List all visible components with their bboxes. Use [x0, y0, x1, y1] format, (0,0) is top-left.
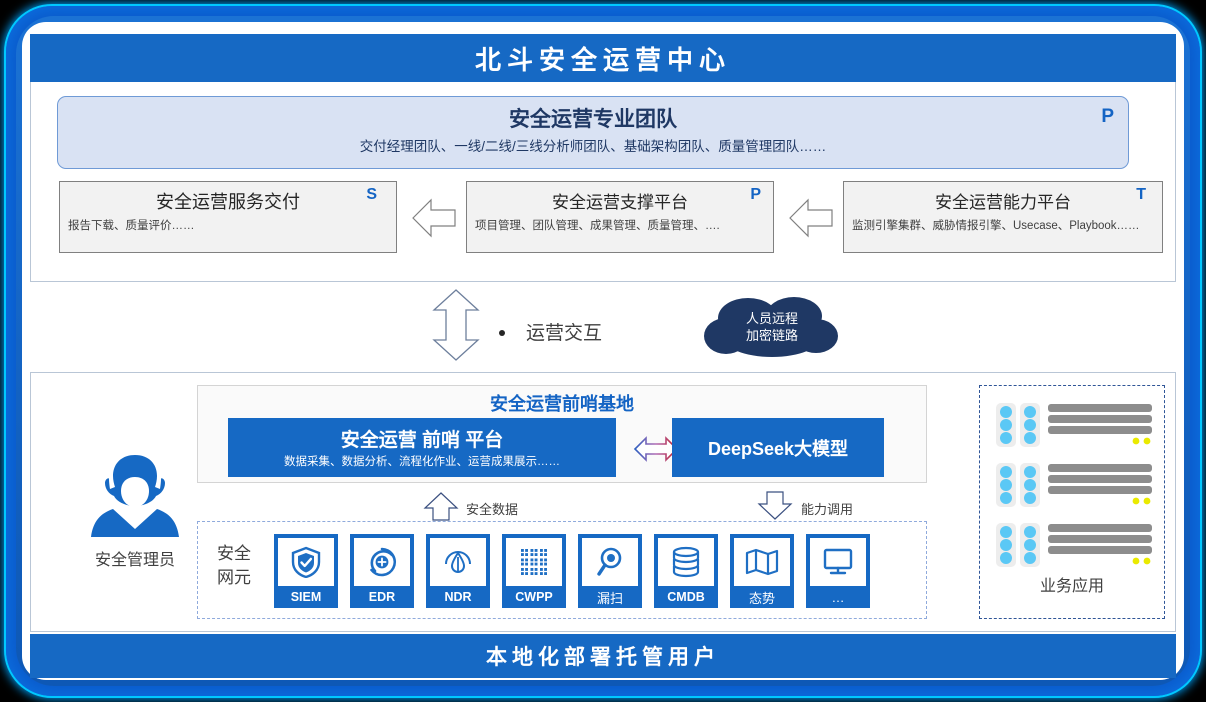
server-icon-2 — [996, 462, 1152, 508]
arrow-left-icon-2 — [788, 197, 834, 239]
tool-card-cwpp[interactable]: CWPP — [502, 534, 566, 608]
tool-card-siem[interactable]: SIEM — [274, 534, 338, 608]
outpost-title: 安全运营前哨基地 — [198, 390, 926, 416]
security-admin: 安全管理员 — [69, 451, 201, 581]
encrypted-link-cloud: 人员远程 加密链路 — [702, 292, 842, 364]
diagram-root: 北斗安全运营中心 安全运营专业团队 交付经理团队、一线/二线/三线分析师团队、基… — [0, 0, 1206, 702]
arrow-updown-icon — [428, 288, 484, 362]
outpost-base-box: 安全运营前哨基地 安全运营 前哨 平台 数据采集、数据分析、流程化作业、运营成果… — [197, 385, 927, 483]
network-leaf-icon — [430, 538, 486, 586]
tool-card-situation[interactable]: 态势 — [730, 534, 794, 608]
cloud-text: 人员远程 加密链路 — [702, 310, 842, 344]
tool-label: CMDB — [667, 586, 705, 608]
netelem-label: 安全 网元 — [214, 542, 254, 590]
capability-call-label: 能力调用 — [801, 499, 853, 518]
tool-card-vulnscan[interactable]: 漏扫 — [578, 534, 642, 608]
cloud-line-2: 加密链路 — [702, 327, 842, 344]
deepseek-model-box: DeepSeek大模型 — [672, 418, 884, 477]
box-badge-t: T — [1136, 186, 1146, 204]
business-applications-panel: 业务应用 — [979, 385, 1165, 619]
arrow-down-icon — [757, 491, 793, 521]
box-badge-p: P — [750, 186, 761, 204]
box-subtitle: 监测引擎集群、威胁情报引擎、Usecase、Playbook…… — [852, 218, 1154, 234]
magnifier-icon — [582, 538, 638, 586]
tool-label: 漏扫 — [597, 586, 623, 608]
deepseek-title: DeepSeek大模型 — [672, 435, 884, 461]
outpost-platform-box: 安全运营 前哨 平台 数据采集、数据分析、流程化作业、运营成果展示…… — [228, 418, 616, 477]
security-tool-icons: SIEM EDR — [274, 534, 916, 608]
cloud-line-1: 人员远程 — [702, 310, 842, 327]
tool-label: NDR — [444, 586, 471, 608]
box-title: 安全运营能力平台 — [844, 188, 1162, 213]
admin-person-icon — [87, 451, 183, 537]
tool-label: EDR — [369, 586, 395, 608]
header-bar: 北斗安全运营中心 — [30, 34, 1176, 82]
outpost-platform-subtitle: 数据采集、数据分析、流程化作业、运营成果展示…… — [228, 453, 616, 469]
security-data-label: 安全数据 — [466, 499, 518, 518]
endpoint-swirl-icon — [354, 538, 410, 586]
bullet-dot — [499, 330, 505, 336]
middle-connector-zone: 运营交互 人员远程 加密链路 — [30, 282, 1176, 374]
netelem-label-line2: 网元 — [214, 566, 254, 590]
security-network-elements: 安全 网元 SIEM — [197, 521, 927, 619]
lower-panel: 安全管理员 安全运营前哨基地 安全运营 前哨 平台 数据采集、数据分析、流程化作… — [30, 372, 1176, 632]
netelem-label-line1: 安全 — [214, 542, 254, 566]
platform-box-service-delivery: 安全运营服务交付 S 报告下载、质量评价…… — [59, 181, 397, 253]
server-icon-3 — [996, 522, 1152, 568]
database-icon — [658, 538, 714, 586]
box-title: 安全运营服务交付 — [60, 188, 396, 214]
arrow-left-icon-1 — [411, 197, 457, 239]
outpost-platform-title: 安全运营 前哨 平台 — [228, 425, 616, 452]
box-title: 安全运营支撑平台 — [467, 188, 773, 213]
tool-label: … — [832, 586, 845, 608]
footer-bar: 本地化部署托管用户 — [30, 634, 1176, 678]
interaction-label: 运营交互 — [526, 318, 602, 345]
diagram-content: 北斗安全运营中心 安全运营专业团队 交付经理团队、一线/二线/三线分析师团队、基… — [30, 34, 1176, 668]
tool-label: SIEM — [291, 586, 322, 608]
monitor-icon — [810, 538, 866, 586]
tool-card-cmdb[interactable]: CMDB — [654, 534, 718, 608]
tool-card-edr[interactable]: EDR — [350, 534, 414, 608]
tool-card-more[interactable]: … — [806, 534, 870, 608]
professional-team-box: 安全运营专业团队 交付经理团队、一线/二线/三线分析师团队、基础架构团队、质量管… — [57, 96, 1129, 169]
tool-card-ndr[interactable]: NDR — [426, 534, 490, 608]
arrow-up-icon — [423, 491, 459, 521]
admin-label: 安全管理员 — [69, 546, 201, 570]
shield-check-icon — [278, 538, 334, 586]
box-subtitle: 报告下载、质量评价…… — [68, 218, 388, 234]
map-icon — [734, 538, 790, 586]
footer-title: 本地化部署托管用户 — [486, 641, 720, 671]
page-title: 北斗安全运营中心 — [475, 40, 731, 77]
box-badge-s: S — [366, 186, 377, 204]
tool-label: 态势 — [749, 586, 775, 608]
team-title: 安全运营专业团队 — [58, 103, 1128, 133]
server-icon-1 — [996, 402, 1152, 448]
upper-panel: 安全运营专业团队 交付经理团队、一线/二线/三线分析师团队、基础架构团队、质量管… — [30, 82, 1176, 282]
business-apps-label: 业务应用 — [980, 572, 1164, 596]
platform-box-support: 安全运营支撑平台 P 项目管理、团队管理、成果管理、质量管理、…. — [466, 181, 774, 253]
team-subtitle: 交付经理团队、一线/二线/三线分析师团队、基础架构团队、质量管理团队…… — [58, 135, 1128, 155]
platform-box-capability: 安全运营能力平台 T 监测引擎集群、威胁情报引擎、Usecase、Playboo… — [843, 181, 1163, 253]
box-subtitle: 项目管理、团队管理、成果管理、质量管理、…. — [475, 218, 765, 234]
tool-label: CWPP — [515, 586, 553, 608]
workload-grid-icon — [506, 538, 562, 586]
team-badge-p: P — [1101, 106, 1114, 128]
